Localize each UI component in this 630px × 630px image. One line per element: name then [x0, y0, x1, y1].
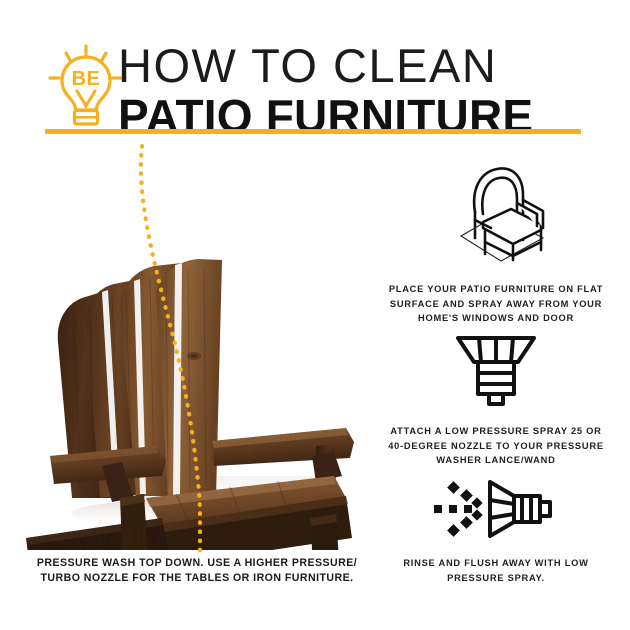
bottom-caption: PRESSURE WASH TOP DOWN. USE A HIGHER PRE…	[22, 556, 372, 586]
patio-chair-on-mat-icon	[431, 162, 561, 270]
bottom-caption-line-1: PRESSURE WASH TOP DOWN. USE A HIGHER PRE…	[22, 556, 372, 571]
step-1-text: PLACE YOUR PATIO FURNITURE ON FLAT SURFA…	[382, 282, 610, 326]
infographic-poster: BE HOW TO CLEAN PATIO FURNITURE	[0, 0, 630, 630]
step-1: PLACE YOUR PATIO FURNITURE ON FLAT SURFA…	[382, 162, 610, 326]
header: BE HOW TO CLEAN PATIO FURNITURE	[0, 0, 630, 140]
step-3-text: RINSE AND FLUSH AWAY WITH LOW PRESSURE S…	[382, 556, 610, 585]
step-3: RINSE AND FLUSH AWAY WITH LOW PRESSURE S…	[382, 478, 610, 585]
spraying-nozzle-icon	[432, 478, 560, 540]
brand-logo-text: BE	[72, 68, 101, 90]
hero-chair-image	[16, 146, 378, 550]
fan-spray-nozzle-icon	[450, 332, 542, 410]
title-line-1: HOW TO CLEAN	[118, 42, 598, 89]
bottom-caption-line-2: TURBO NOZZLE FOR THE TABLES OR IRON FURN…	[22, 571, 372, 586]
step-2-icon-wrap	[382, 332, 610, 410]
step-2: ATTACH A LOW PRESSURE SPRAY 25 OR 40-DEG…	[382, 332, 610, 468]
step-1-icon-wrap	[382, 162, 610, 270]
page-title: HOW TO CLEAN PATIO FURNITURE	[118, 42, 598, 141]
step-3-icon-wrap	[382, 478, 610, 540]
step-2-text: ATTACH A LOW PRESSURE SPRAY 25 OR 40-DEG…	[382, 424, 610, 468]
header-divider	[45, 129, 581, 134]
